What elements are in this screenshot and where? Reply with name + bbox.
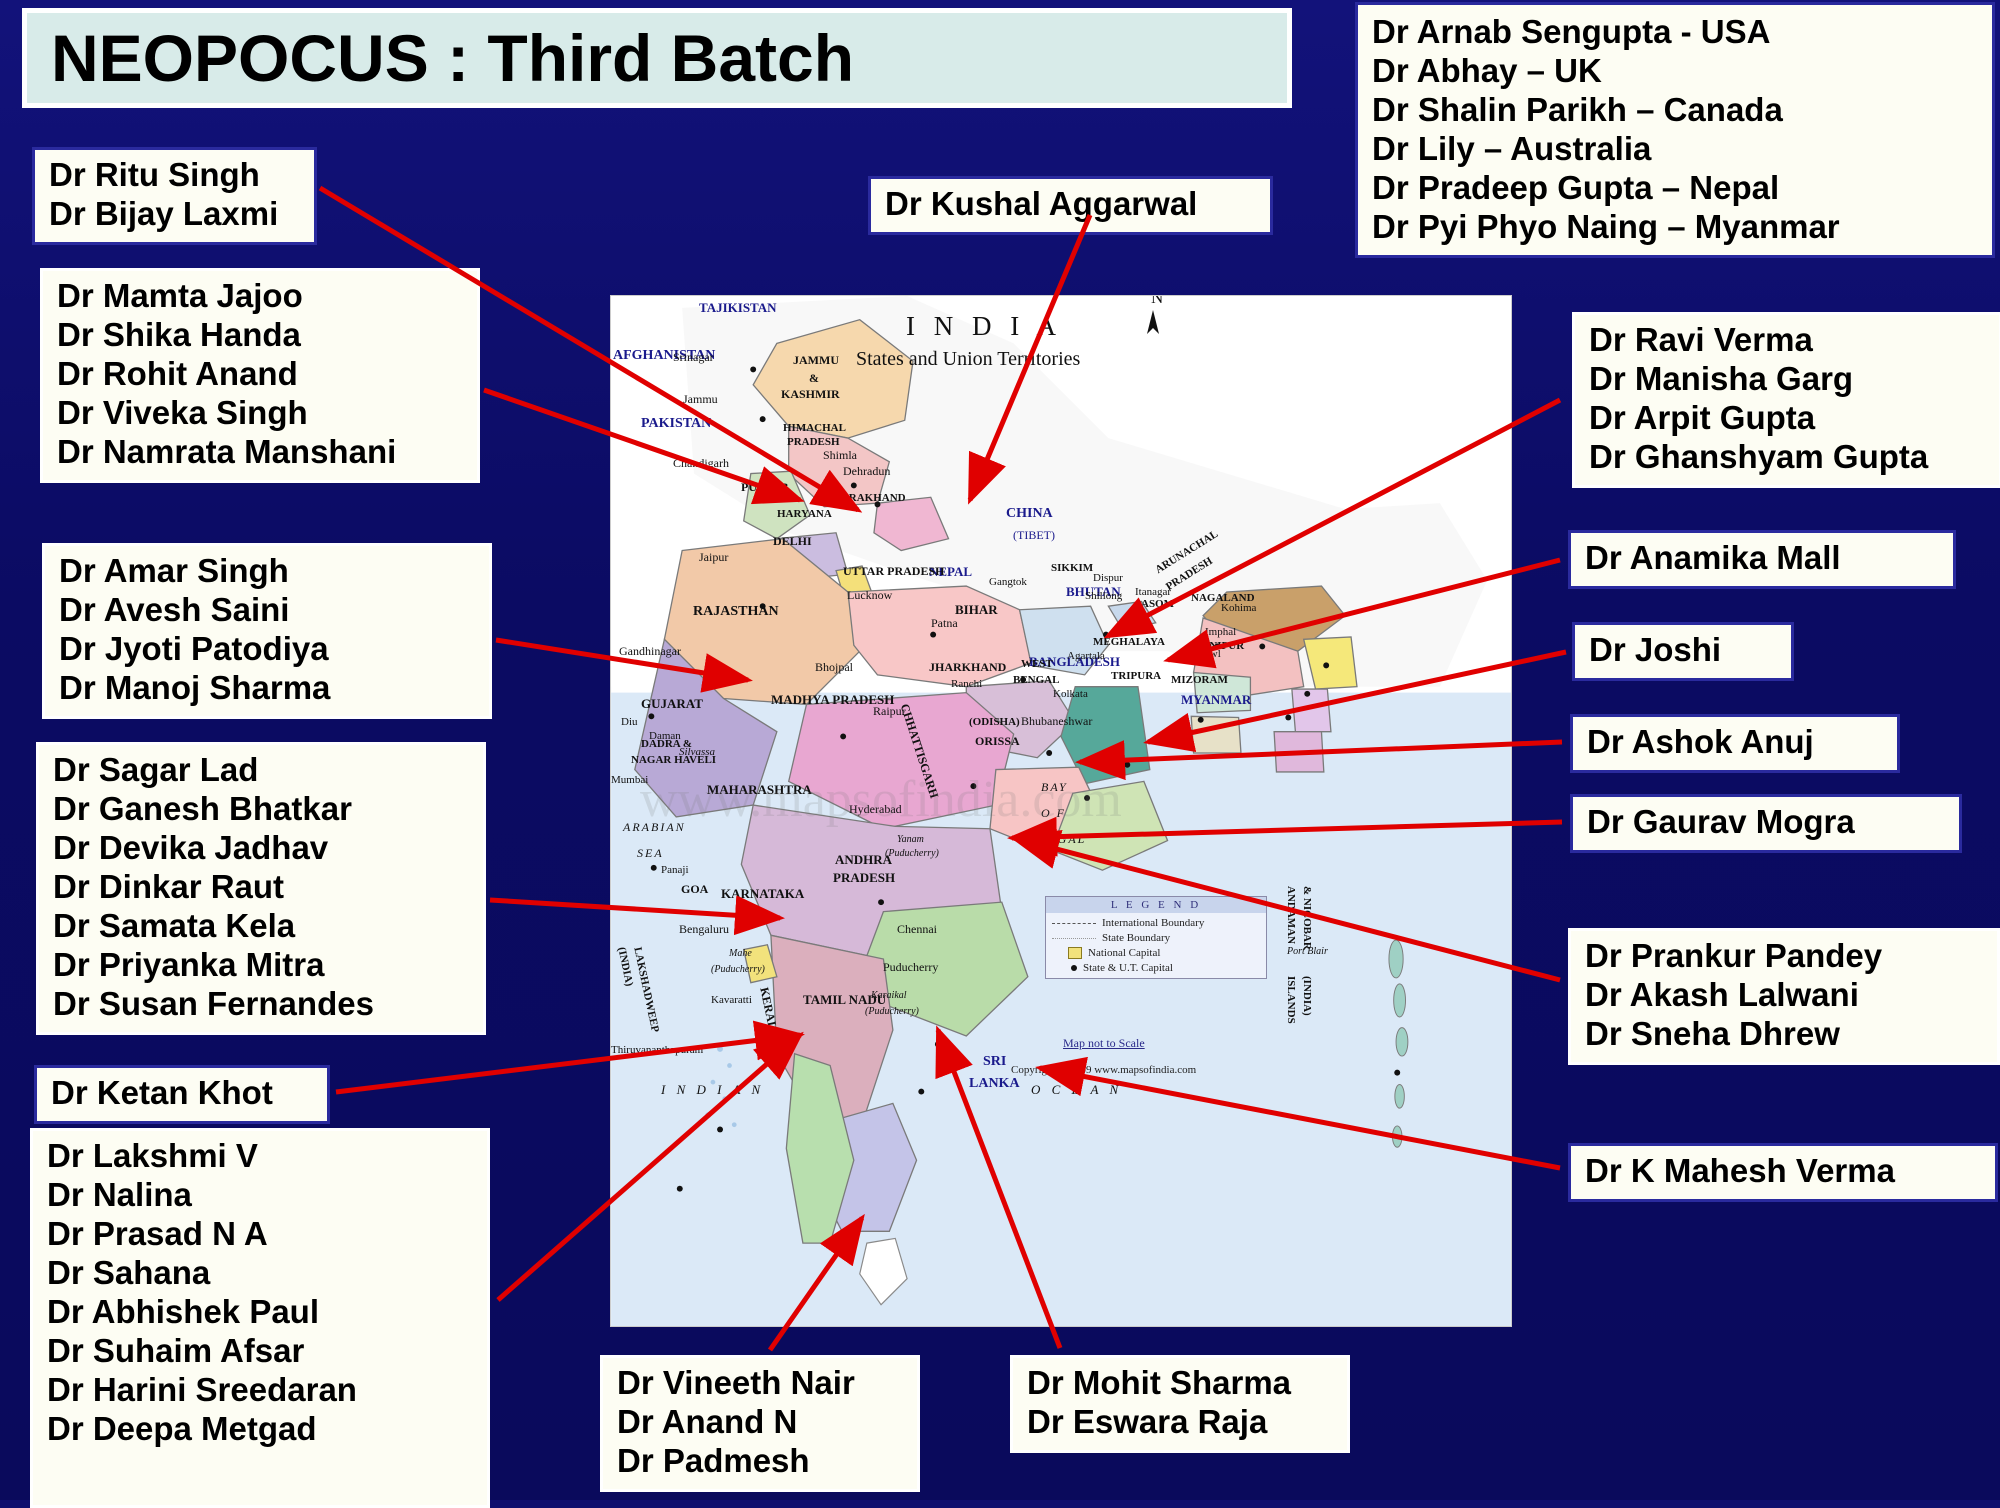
list-item: Dr Kushal Aggarwal — [885, 185, 1256, 224]
list-item: Dr Samata Kela — [53, 907, 469, 946]
list-item: Dr K Mahesh Verma — [1585, 1152, 1981, 1191]
list-item: Dr Pradeep Gupta – Nepal — [1372, 169, 1978, 208]
list-item: Dr Susan Fernandes — [53, 985, 469, 1024]
list-item: Dr Prankur Pandey — [1585, 937, 1983, 976]
international-delegates-box: Dr Arnab Sengupta - USA Dr Abhay – UK Dr… — [1355, 2, 1995, 258]
list-item: Dr Harini Sreedaran — [47, 1371, 473, 1410]
list-item: Dr Arnab Sengupta - USA — [1372, 13, 1978, 52]
list-item: Dr Abhay – UK — [1372, 52, 1978, 91]
box-ketan-khot: Dr Ketan Khot — [34, 1065, 330, 1124]
title-inner: NEOPOCUS : Third Batch — [27, 13, 1287, 103]
list-item: Dr Anand N — [617, 1403, 903, 1442]
box-prankur-pandey: Dr Prankur Pandey Dr Akash Lalwani Dr Sn… — [1568, 928, 2000, 1065]
box-gaurav-mogra: Dr Gaurav Mogra — [1570, 794, 1962, 853]
list-item: Dr Priyanka Mitra — [53, 946, 469, 985]
india-map: I N D I A States and Union Territories N… — [610, 295, 1512, 1327]
box-amar-singh: Dr Amar Singh Dr Avesh Saini Dr Jyoti Pa… — [42, 543, 492, 719]
box-kushal-aggarwal: Dr Kushal Aggarwal — [868, 176, 1273, 235]
list-item: Dr Lakshmi V — [47, 1137, 473, 1176]
page-title: NEOPOCUS : Third Batch — [51, 20, 854, 96]
list-item: Dr Pyi Phyo Naing – Myanmar — [1372, 208, 1978, 247]
box-ritu-singh: Dr Ritu Singh Dr Bijay Laxmi — [32, 147, 317, 245]
list-item: Dr Ravi Verma — [1589, 321, 1985, 360]
box-lakshmi-v: Dr Lakshmi V Dr Nalina Dr Prasad N A Dr … — [30, 1128, 490, 1508]
legend-national-capital-icon — [1068, 947, 1082, 959]
list-item: Dr Ketan Khot — [51, 1074, 313, 1113]
list-item: Dr Prasad N A — [47, 1215, 473, 1254]
list-item: Dr Gaurav Mogra — [1587, 803, 1945, 842]
legend-state-capital-icon — [1071, 965, 1077, 971]
box-joshi: Dr Joshi — [1572, 622, 1794, 681]
list-item: Dr Dinkar Raut — [53, 868, 469, 907]
box-anamika-mall: Dr Anamika Mall — [1568, 530, 1956, 589]
list-item: Dr Devika Jadhav — [53, 829, 469, 868]
list-item: Dr Ganesh Bhatkar — [53, 790, 469, 829]
legend-intl-boundary-icon — [1052, 923, 1096, 924]
box-mohit-sharma: Dr Mohit Sharma Dr Eswara Raja — [1010, 1355, 1350, 1453]
list-item: Dr Sneha Dhrew — [1585, 1015, 1983, 1054]
box-sagar-lad: Dr Sagar Lad Dr Ganesh Bhatkar Dr Devika… — [36, 742, 486, 1035]
list-item: Dr Jyoti Patodiya — [59, 630, 475, 669]
map-svg — [611, 296, 1511, 1326]
list-item: Dr Shalin Parikh – Canada — [1372, 91, 1978, 130]
list-item: Dr Suhaim Afsar — [47, 1332, 473, 1371]
list-item: Dr Namrata Manshani — [57, 433, 463, 472]
legend-item-label: State Boundary — [1102, 932, 1170, 944]
list-item: Dr Mamta Jajoo — [57, 277, 463, 316]
legend-item-label: International Boundary — [1102, 917, 1204, 929]
legend-state-boundary-icon — [1052, 938, 1096, 939]
list-item: Dr Ghanshyam Gupta — [1589, 438, 1985, 477]
list-item: Dr Mohit Sharma — [1027, 1364, 1333, 1403]
list-item: Dr Shika Handa — [57, 316, 463, 355]
box-vineeth-nair: Dr Vineeth Nair Dr Anand N Dr Padmesh — [600, 1355, 920, 1492]
legend-item-label: National Capital — [1088, 947, 1160, 959]
list-item: Dr Akash Lalwani — [1585, 976, 1983, 1015]
box-ashok-anuj: Dr Ashok Anuj — [1570, 714, 1900, 773]
list-item: Dr Eswara Raja — [1027, 1403, 1333, 1442]
list-item: Dr Joshi — [1589, 631, 1777, 670]
list-item: Dr Nalina — [47, 1176, 473, 1215]
list-item: Dr Avesh Saini — [59, 591, 475, 630]
list-item: Dr Bijay Laxmi — [49, 195, 300, 234]
list-item: Dr Manisha Garg — [1589, 360, 1985, 399]
list-item: Dr Anamika Mall — [1585, 539, 1939, 578]
map-legend: L E G E N D International Boundary State… — [1045, 896, 1267, 979]
list-item: Dr Sahana — [47, 1254, 473, 1293]
title-banner: NEOPOCUS : Third Batch — [22, 8, 1292, 108]
list-item: Dr Amar Singh — [59, 552, 475, 591]
list-item: Dr Ritu Singh — [49, 156, 300, 195]
legend-title: L E G E N D — [1046, 897, 1266, 913]
list-item: Dr Ashok Anuj — [1587, 723, 1883, 762]
list-item: Dr Lily – Australia — [1372, 130, 1978, 169]
list-item: Dr Deepa Metgad — [47, 1410, 473, 1449]
list-item: Dr Arpit Gupta — [1589, 399, 1985, 438]
box-k-mahesh-verma: Dr K Mahesh Verma — [1568, 1143, 1998, 1202]
list-item: Dr Sagar Lad — [53, 751, 469, 790]
legend-item-label: State & U.T. Capital — [1083, 962, 1173, 974]
box-ravi-verma: Dr Ravi Verma Dr Manisha Garg Dr Arpit G… — [1572, 312, 2000, 488]
list-item: Dr Viveka Singh — [57, 394, 463, 433]
list-item: Dr Rohit Anand — [57, 355, 463, 394]
list-item: Dr Manoj Sharma — [59, 669, 475, 708]
box-mamta-jajoo: Dr Mamta Jajoo Dr Shika Handa Dr Rohit A… — [40, 268, 480, 483]
list-item: Dr Abhishek Paul — [47, 1293, 473, 1332]
list-item: Dr Padmesh — [617, 1442, 903, 1481]
list-item: Dr Vineeth Nair — [617, 1364, 903, 1403]
